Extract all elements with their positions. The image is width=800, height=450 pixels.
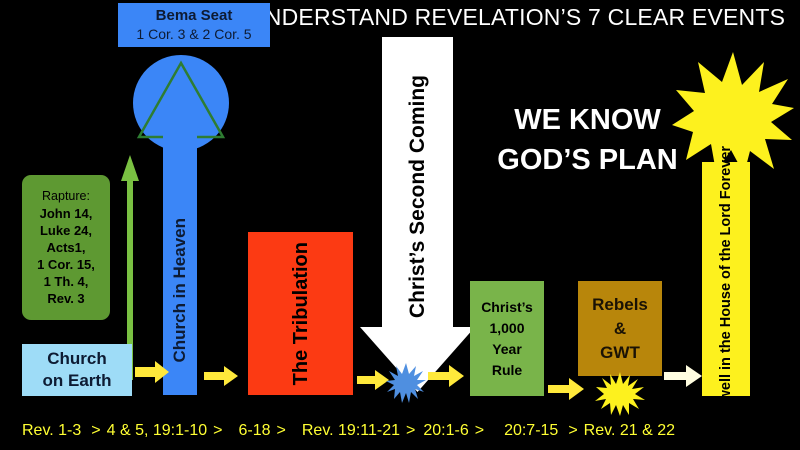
rebels-line-2: & xyxy=(614,317,626,341)
arrow-second-coming-to-millennium-icon xyxy=(428,364,464,388)
judgment-sunburst-icon xyxy=(595,372,645,416)
second-coming-impact-burst-icon xyxy=(386,363,426,403)
rapture-box: Rapture: John 14, Luke 24, Acts1, 1 Cor.… xyxy=(22,175,110,320)
ref-segment-10: > xyxy=(475,422,484,440)
arrow-heaven-to-tribulation-icon xyxy=(204,364,238,388)
tribulation-label: The Tribulation xyxy=(248,232,353,395)
arrow-rebels-to-eternity-icon xyxy=(664,364,702,388)
ref-segment-12: > xyxy=(568,422,577,440)
tagline-line-2: GOD’S PLAN xyxy=(497,140,677,180)
ref-segment-5: 6-18 xyxy=(238,422,270,440)
ref-segment-9: 20:1-6 xyxy=(423,422,468,440)
ref-segment-3: 4 & 5, 19:1-10 xyxy=(107,422,208,440)
arrow-earth-to-heaven-icon xyxy=(135,360,169,384)
bema-seat-card: Bema Seat 1 Cor. 3 & 2 Cor. 5 xyxy=(118,3,270,47)
millennium-line-3: Year xyxy=(492,339,522,360)
ref-segment-6: > xyxy=(277,422,286,440)
revelation-timeline-diagram: UNDERSTAND REVELATION’S 7 CLEAR EVENTS B… xyxy=(0,0,800,450)
rapture-heading: Rapture: xyxy=(42,188,90,205)
church-on-earth-box: Church on Earth xyxy=(22,344,132,396)
church-on-earth-line1: Church xyxy=(47,348,107,370)
rapture-ref-3: Acts1, xyxy=(46,239,85,256)
bema-seat-title: Bema Seat xyxy=(156,6,233,25)
rapture-ref-2: Luke 24, xyxy=(40,222,92,239)
page-title: UNDERSTAND REVELATION’S 7 CLEAR EVENTS xyxy=(248,2,793,32)
tagline: WE KNOW GOD’S PLAN xyxy=(470,95,705,185)
rebels-line-1: Rebels xyxy=(592,293,648,317)
church-in-heaven-text: Church in Heaven xyxy=(170,218,190,363)
ref-segment-11: 20:7-15 xyxy=(504,422,558,440)
millennium-line-4: Rule xyxy=(492,360,522,381)
millennium-box: Christ’s 1,000 Year Rule xyxy=(470,281,544,396)
second-coming-text: Christ’s Second Coming xyxy=(406,75,430,318)
ref-segment-8: > xyxy=(406,422,415,440)
ref-segment-1: Rev. 1-3 xyxy=(22,422,81,440)
arrow-millennium-to-rebels-icon xyxy=(548,377,584,401)
rebels-line-3: GWT xyxy=(600,341,640,365)
rapture-ref-6: Rev. 3 xyxy=(47,290,84,307)
church-on-earth-line2: on Earth xyxy=(43,370,112,392)
rapture-ref-1: John 14, xyxy=(40,205,93,222)
ref-segment-7: Rev. 19:11-21 xyxy=(302,422,400,440)
eternity-label: Dwell in the House of the Lord Forever xyxy=(702,162,750,396)
rapture-ref-5: 1 Th. 4, xyxy=(44,273,89,290)
millennium-line-2: 1,000 xyxy=(489,318,524,339)
rapture-ref-4: 1 Cor. 15, xyxy=(37,256,95,273)
ref-segment-2: > xyxy=(91,422,100,440)
scripture-reference-row: Rev. 1-3 > 4 & 5, 19:1-10 > 6-18 > Rev. … xyxy=(0,414,800,448)
bema-seat-reference: 1 Cor. 3 & 2 Cor. 5 xyxy=(136,25,251,44)
millennium-line-1: Christ’s xyxy=(481,297,533,318)
tribulation-text: The Tribulation xyxy=(289,242,313,385)
eternity-text: Dwell in the House of the Lord Forever xyxy=(716,146,736,412)
ref-segment-4: > xyxy=(213,422,222,440)
tagline-line-1: WE KNOW xyxy=(514,100,661,140)
ref-segment-13: Rev. 21 & 22 xyxy=(584,422,675,440)
rebels-gwt-box: Rebels & GWT xyxy=(578,281,662,376)
second-coming-label: Christ’s Second Coming xyxy=(360,37,475,357)
